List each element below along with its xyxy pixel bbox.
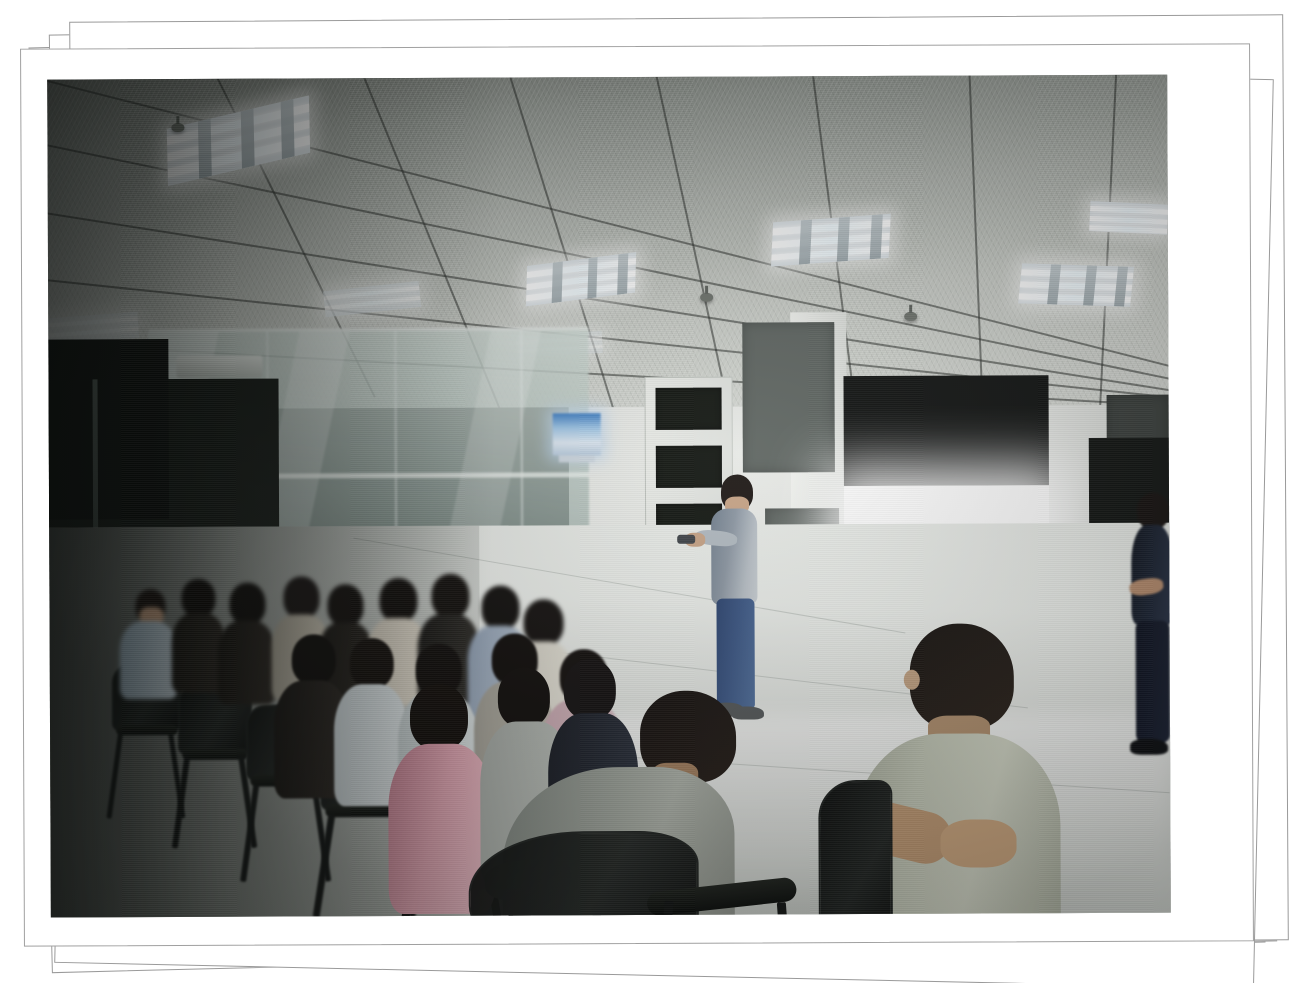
attendee-head bbox=[910, 623, 1014, 729]
smoke-detector bbox=[904, 312, 917, 321]
door-glass-pane bbox=[656, 388, 722, 430]
observer-shirt bbox=[1131, 525, 1171, 625]
attendee-ear bbox=[904, 670, 920, 690]
observer-head bbox=[1137, 493, 1169, 529]
main-photo-frame[interactable] bbox=[20, 43, 1254, 946]
observer-pants bbox=[1136, 621, 1171, 743]
presenter bbox=[711, 474, 764, 718]
folding-chair bbox=[468, 830, 799, 917]
folding-chair bbox=[818, 779, 1059, 917]
screenshot-canvas bbox=[0, 0, 1302, 983]
presenter-remote bbox=[677, 535, 695, 544]
left-doorway-shadow bbox=[48, 339, 169, 520]
standing-observer bbox=[1131, 493, 1171, 763]
ceiling-light-fixture bbox=[771, 214, 891, 267]
audience-head bbox=[410, 684, 468, 750]
audience-member bbox=[217, 583, 278, 703]
observer-shoe bbox=[1130, 739, 1168, 755]
training-room-scene bbox=[47, 75, 1171, 918]
ceiling-light-fixture bbox=[1089, 201, 1168, 235]
photograph bbox=[47, 75, 1171, 918]
screen-top-border bbox=[843, 375, 1048, 486]
ceiling-light-fixture bbox=[1018, 263, 1134, 306]
smoke-detector bbox=[700, 293, 713, 302]
acoustic-panel bbox=[742, 322, 835, 472]
smoke-detector bbox=[171, 123, 184, 132]
air-conditioner-unit bbox=[176, 356, 262, 378]
computer-monitor-glow bbox=[553, 413, 601, 455]
presenter-shirt bbox=[711, 508, 757, 604]
